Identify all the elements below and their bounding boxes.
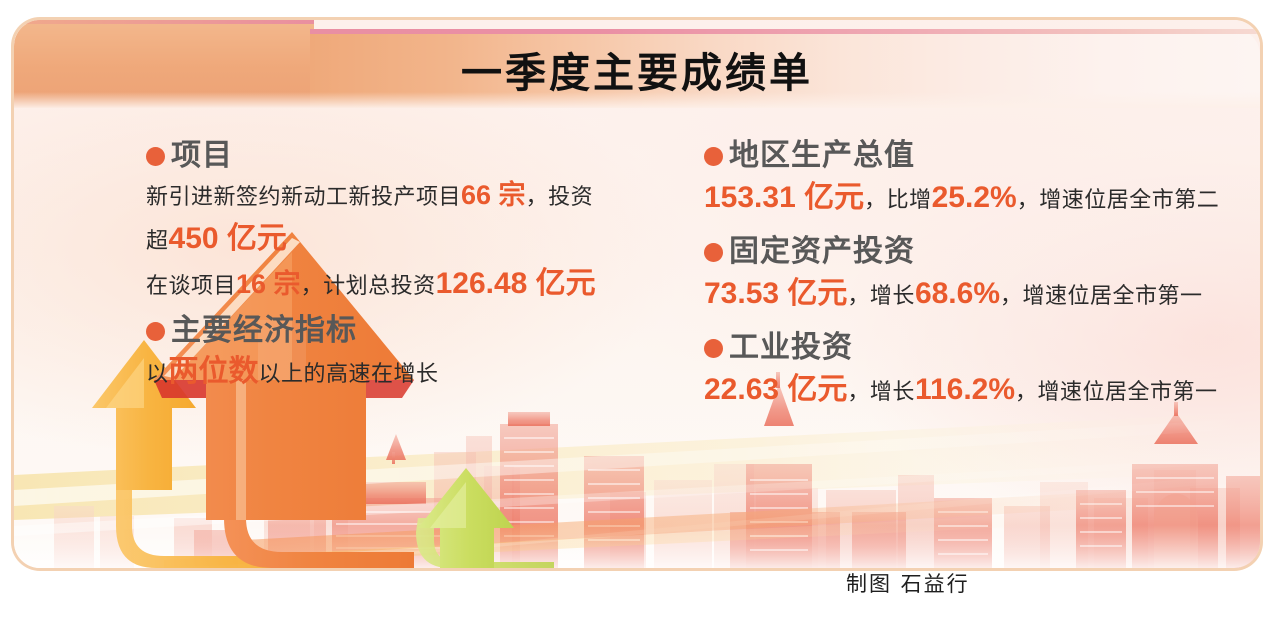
metric-line: 73.53 亿元，增长68.6%，增速位居全市第一 bbox=[704, 271, 1260, 317]
metric-heading-label: 固定资产投资 bbox=[729, 234, 915, 271]
metric-value: 25.2% bbox=[932, 181, 1017, 214]
metric-line: 以两位数以上的高速在增长 bbox=[146, 349, 686, 395]
metric-heading-label: 工业投资 bbox=[729, 330, 853, 367]
metric-line: 在谈项目16 宗，计划总投资126.48 亿元 bbox=[146, 261, 686, 307]
metric-block: 主要经济指标以两位数以上的高速在增长 bbox=[146, 313, 686, 395]
metric-text: 新引进新签约新动工新投产项目 bbox=[146, 185, 461, 210]
metric-value: 22.63 亿元 bbox=[704, 373, 847, 406]
metric-value: 153.31 亿元 bbox=[704, 181, 864, 214]
metric-heading: 工业投资 bbox=[704, 330, 1260, 367]
metric-heading: 固定资产投资 bbox=[704, 234, 1260, 271]
metric-line: 超450 亿元 bbox=[146, 216, 686, 262]
metric-value: 两位数 bbox=[169, 355, 259, 388]
metric-heading: 项目 bbox=[146, 138, 686, 175]
metric-value: 66 宗 bbox=[461, 180, 526, 210]
metric-value: 126.48 亿元 bbox=[436, 267, 596, 300]
metric-text: ，增长 bbox=[847, 380, 915, 405]
chart-credit: 制图 石益行 bbox=[846, 568, 970, 598]
metric-text: 在谈项目 bbox=[146, 274, 236, 299]
metric-text: 超 bbox=[146, 229, 169, 254]
metric-text: ，投资 bbox=[526, 185, 594, 210]
infographic-card: 一季度主要成绩单 项目新引进新签约新动工新投产项目66 宗，投资超450 亿元在… bbox=[14, 20, 1260, 568]
metric-heading-label: 地区生产总值 bbox=[729, 138, 915, 175]
metric-text: ，增长 bbox=[847, 284, 915, 309]
metric-value: 73.53 亿元 bbox=[704, 277, 847, 310]
metric-text: ，增速位居全市第一 bbox=[1000, 284, 1203, 309]
metric-block: 工业投资22.63 亿元，增长116.2%，增速位居全市第一 bbox=[704, 330, 1260, 412]
metric-text: 以 bbox=[146, 362, 169, 387]
bullet-dot-icon bbox=[146, 322, 165, 341]
bullet-dot-icon bbox=[704, 339, 723, 358]
metric-block: 地区生产总值153.31 亿元，比增25.2%，增速位居全市第二 bbox=[704, 138, 1260, 220]
content-area: 项目新引进新签约新动工新投产项目66 宗，投资超450 亿元在谈项目16 宗，计… bbox=[14, 20, 1260, 568]
metric-heading-label: 项目 bbox=[171, 138, 233, 175]
metric-value: 68.6% bbox=[915, 277, 1000, 310]
metric-heading: 地区生产总值 bbox=[704, 138, 1260, 175]
metric-line: 22.63 亿元，增长116.2%，增速位居全市第一 bbox=[704, 367, 1260, 413]
metric-value: 16 宗 bbox=[236, 269, 301, 299]
metric-text: ，增速位居全市第二 bbox=[1017, 188, 1220, 213]
bullet-dot-icon bbox=[146, 147, 165, 166]
metric-line: 新引进新签约新动工新投产项目66 宗，投资 bbox=[146, 175, 686, 216]
metric-block: 项目新引进新签约新动工新投产项目66 宗，投资超450 亿元在谈项目16 宗，计… bbox=[146, 138, 686, 307]
metric-value: 116.2% bbox=[915, 373, 1015, 406]
left-column: 项目新引进新签约新动工新投产项目66 宗，投资超450 亿元在谈项目16 宗，计… bbox=[146, 138, 686, 401]
bullet-dot-icon bbox=[704, 243, 723, 262]
metric-text: ，增速位居全市第一 bbox=[1015, 380, 1218, 405]
metric-line: 153.31 亿元，比增25.2%，增速位居全市第二 bbox=[704, 175, 1260, 221]
metric-text: 以上的高速在增长 bbox=[259, 362, 439, 387]
metric-block: 固定资产投资73.53 亿元，增长68.6%，增速位居全市第一 bbox=[704, 234, 1260, 316]
metric-text: ，计划总投资 bbox=[301, 274, 436, 299]
metric-heading: 主要经济指标 bbox=[146, 313, 686, 350]
metric-text: ，比增 bbox=[864, 188, 932, 213]
metric-value: 450 亿元 bbox=[169, 222, 287, 255]
right-column: 地区生产总值153.31 亿元，比增25.2%，增速位居全市第二固定资产投资73… bbox=[704, 138, 1260, 427]
metric-heading-label: 主要经济指标 bbox=[171, 313, 357, 350]
bullet-dot-icon bbox=[704, 147, 723, 166]
